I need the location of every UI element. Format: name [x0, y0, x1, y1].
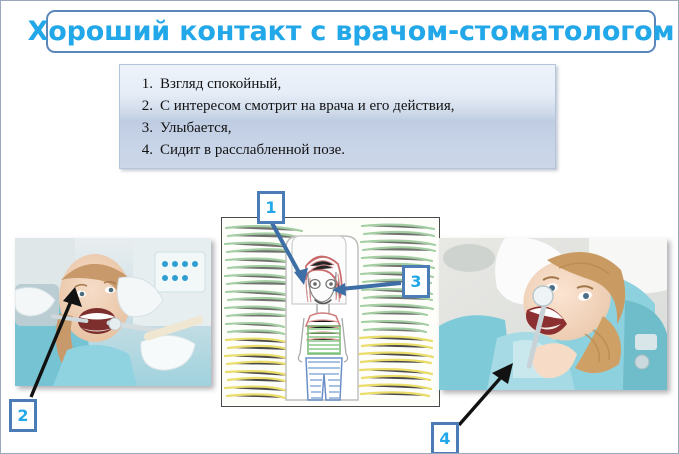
- callout-badge-2-label: 2: [17, 406, 28, 425]
- page-title: Хороший контакт с врачом-стоматологом: [28, 18, 675, 45]
- callout-badge-4[interactable]: 4: [431, 422, 459, 454]
- photo-girl-dental-exam-left: [15, 238, 211, 386]
- list-item: Сидит в расслабленной позе.: [160, 139, 545, 161]
- callout-badge-1[interactable]: 1: [257, 191, 285, 224]
- photo-girl-dental-exam-right: [439, 238, 667, 390]
- child-crayon-drawing: [221, 217, 440, 407]
- callout-badge-3-label: 3: [410, 272, 421, 291]
- list-item: С интересом смотрит на врача и его дейст…: [160, 95, 545, 117]
- criteria-list-panel: Взгляд спокойный, С интересом смотрит на…: [119, 64, 556, 169]
- slide: Хороший контакт с врачом-стоматологом Вз…: [0, 0, 679, 454]
- callout-badge-4-label: 4: [439, 429, 450, 448]
- callout-badge-2[interactable]: 2: [9, 399, 37, 432]
- drawing-graphic: [222, 218, 439, 406]
- photo-right-graphic: [439, 238, 667, 390]
- list-item: Улыбается,: [160, 117, 545, 139]
- slide-title-box: Хороший контакт с врачом-стоматологом: [46, 10, 656, 53]
- criteria-list: Взгляд спокойный, С интересом смотрит на…: [130, 73, 545, 161]
- list-item: Взгляд спокойный,: [160, 73, 545, 95]
- callout-badge-3[interactable]: 3: [402, 265, 430, 298]
- photo-left-graphic: [15, 238, 211, 386]
- callout-badge-1-label: 1: [265, 198, 276, 217]
